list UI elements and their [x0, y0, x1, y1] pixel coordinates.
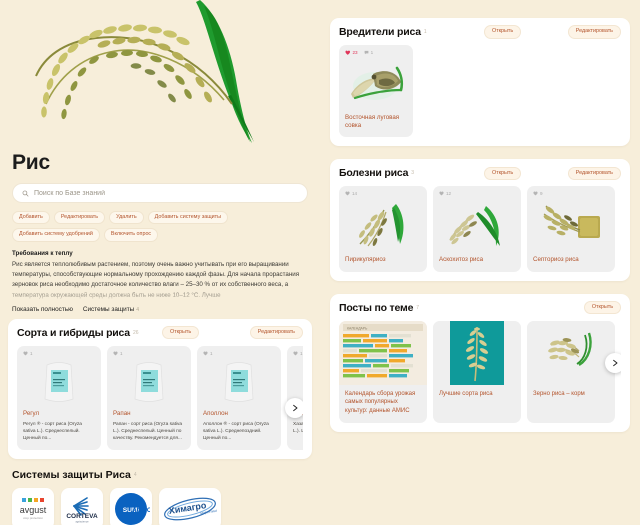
- ascochyta-illustration: [442, 200, 512, 250]
- pest-card[interactable]: 23 1: [339, 45, 413, 137]
- card-badges: 1: [23, 351, 95, 356]
- varieties-title: Сорта и гибриды риса: [17, 327, 130, 339]
- post-card[interactable]: Лучшие сорта риса: [433, 321, 521, 423]
- variety-image: [203, 358, 275, 406]
- disease-name: Аскохитоз риса: [439, 256, 515, 264]
- description-links: Показать полностью Системы защиты4: [12, 306, 308, 313]
- edit-button[interactable]: Редактировать: [54, 211, 105, 224]
- corteva-logo-icon: CORTEVA agriscience: [63, 493, 101, 525]
- description-heading: Требования к теплу: [12, 250, 308, 257]
- varieties-count: 26: [133, 330, 139, 336]
- svg-text:crop protection: crop protection: [23, 516, 43, 520]
- variety-card[interactable]: 1 Аполлон Аполлон: [197, 346, 281, 450]
- rice-panicle-photo: [433, 321, 521, 385]
- svg-text:agriscience: agriscience: [75, 519, 89, 523]
- post-image: [433, 321, 521, 385]
- pests-edit-button[interactable]: Редактировать: [568, 25, 621, 38]
- variety-name: Регул: [23, 410, 95, 418]
- card-badges: 1: [113, 351, 185, 356]
- post-title: Лучшие сорта риса: [433, 385, 521, 406]
- moth-illustration: [345, 60, 407, 108]
- logo-himagromarketing[interactable]: Химагро маркетинг: [159, 488, 221, 525]
- like-badge: 1: [203, 351, 213, 356]
- variety-card[interactable]: 1 Рапан Рапан - со: [107, 346, 191, 450]
- card-badges: 12: [439, 191, 515, 196]
- variety-name: Аполлон: [203, 410, 275, 418]
- protection-systems-header: Системы защиты Риса 4: [12, 469, 308, 481]
- card-badges: 23 1: [345, 50, 407, 56]
- post-title: Календарь сбора урожая самых популярных …: [339, 385, 427, 423]
- like-badge: 1: [113, 351, 123, 356]
- search-container: [0, 183, 320, 203]
- logo-sumiagro[interactable]: SUMI AGRO: [110, 488, 152, 525]
- post-image: [527, 321, 615, 385]
- post-card[interactable]: Зерно риса – корм: [527, 321, 615, 423]
- varieties-panel: Сорта и гибриды риса 26 Открыть Редактир…: [8, 319, 312, 459]
- svg-text:КАЛЕНДАРЬ: КАЛЕНДАРЬ: [347, 326, 368, 330]
- diseases-title: Болезни риса: [339, 167, 408, 179]
- svg-text:CORTEVA: CORTEVA: [66, 513, 98, 520]
- diseases-open-button[interactable]: Открыть: [484, 167, 521, 180]
- protection-systems-count: 4: [134, 472, 137, 478]
- like-badge: 12: [439, 191, 451, 196]
- seed-bag-icon: [219, 359, 259, 405]
- disease-image: [345, 198, 421, 252]
- like-badge: 14: [345, 191, 357, 196]
- chevron-right-icon: [611, 359, 619, 367]
- enable-poll-button[interactable]: Включить опрос: [104, 228, 158, 241]
- harvest-calendar-chart: КАЛЕНДАРЬ: [339, 321, 427, 385]
- posts-count: 7: [416, 305, 419, 311]
- disease-card[interactable]: 9: [527, 186, 615, 271]
- diseases-edit-button[interactable]: Редактировать: [568, 167, 621, 180]
- svg-text:avgust: avgust: [20, 505, 47, 515]
- heart-icon: [293, 351, 298, 356]
- card-badges: 9: [533, 191, 609, 196]
- like-badge: 1: [293, 351, 303, 356]
- pests-title: Вредители риса: [339, 26, 421, 38]
- variety-card[interactable]: 1 Регул Регул ® -: [17, 346, 101, 450]
- seed-bag-icon: [39, 359, 79, 405]
- heart-icon: [23, 351, 28, 356]
- pests-open-button[interactable]: Открыть: [484, 25, 521, 38]
- variety-desc: Регул ® - сорт риса (Oryza sativa L.). С…: [23, 421, 95, 443]
- heart-icon: [345, 191, 350, 196]
- card-badges: 1: [293, 351, 303, 356]
- logo-corteva[interactable]: CORTEVA agriscience: [61, 488, 103, 525]
- varieties-edit-button[interactable]: Редактировать: [250, 326, 303, 339]
- posts-panel: Посты по теме 7 Открыть КАЛЕНДАРЬ: [330, 294, 630, 432]
- varieties-next-button[interactable]: [285, 398, 303, 418]
- pests-count: 1: [424, 29, 427, 35]
- posts-header: Посты по теме 7 Открыть: [339, 302, 621, 314]
- heart-icon: [533, 191, 538, 196]
- disease-image: [533, 198, 609, 252]
- protection-systems-link[interactable]: Системы защиты4: [83, 306, 139, 313]
- description-text: Рис является теплолюбивым растением, поэ…: [12, 260, 308, 301]
- search-icon: [22, 190, 29, 197]
- varieties-open-button[interactable]: Открыть: [162, 326, 199, 339]
- post-card[interactable]: КАЛЕНДАРЬ: [339, 321, 427, 423]
- protection-systems-logos: avgust crop protection CORTEVA agriscien…: [12, 488, 308, 525]
- hero-image: [0, 0, 320, 145]
- heart-icon: [345, 50, 351, 56]
- post-image: КАЛЕНДАРЬ: [339, 321, 427, 385]
- like-badge: 9: [533, 191, 543, 196]
- posts-title: Посты по теме: [339, 302, 413, 314]
- rice-plant-illustration: [0, 0, 320, 145]
- page-title: Рис: [0, 145, 320, 183]
- pest-name: Восточная луговая совка: [345, 114, 407, 131]
- pests-panel: Вредители риса 1 Открыть Редактировать 2…: [330, 18, 630, 146]
- posts-open-button[interactable]: Открыть: [584, 301, 621, 314]
- search-input[interactable]: [34, 190, 298, 197]
- disease-image: [439, 198, 515, 252]
- disease-name: Септориоз риса: [533, 256, 609, 264]
- add-protection-system-button[interactable]: Добавить систему защиты: [148, 211, 228, 224]
- varieties-header: Сорта и гибриды риса 26 Открыть Редактир…: [17, 327, 303, 339]
- rice-blast-illustration: [348, 200, 418, 250]
- variety-desc: Рапан - сорт риса (Oryza sativa L.). Сре…: [113, 421, 185, 443]
- action-buttons: Добавить Редактировать Удалить Добавить …: [0, 203, 320, 248]
- disease-name: Пирикуляриоз: [345, 256, 421, 264]
- like-badge: 1: [23, 351, 33, 356]
- septoria-illustration: [536, 200, 606, 250]
- svg-text:AGRO: AGRO: [132, 507, 150, 514]
- rice-grain-feed-photo: [527, 321, 615, 385]
- varieties-cards: 1 Регул Регул ® -: [17, 346, 303, 450]
- heart-icon: [203, 351, 208, 356]
- avgust-logo-icon: avgust crop protection: [14, 494, 52, 524]
- disease-card[interactable]: 14: [339, 186, 427, 271]
- variety-image: [23, 358, 95, 406]
- diseases-cards: 14: [339, 186, 621, 271]
- disease-card[interactable]: 12: [433, 186, 521, 271]
- variety-desc: Хазар - сорт риса (Oryza sativa L.). Цен…: [293, 421, 303, 435]
- sumiagro-logo-icon: SUMI AGRO: [112, 490, 150, 525]
- pest-image: [345, 58, 407, 110]
- search-bar[interactable]: [12, 183, 308, 203]
- comment-icon: [364, 50, 369, 55]
- show-more-link[interactable]: Показать полностью: [12, 306, 73, 313]
- knowledge-base-page: Рис Добавить Редактировать Удалить Добав…: [0, 0, 640, 525]
- chevron-right-icon: [291, 404, 299, 412]
- card-badges: 14: [345, 191, 421, 196]
- pests-header: Вредители риса 1 Открыть Редактировать: [339, 26, 621, 38]
- variety-name: Рапан: [113, 410, 185, 418]
- right-column: Вредители риса 1 Открыть Редактировать 2…: [330, 0, 640, 525]
- seed-bag-icon: [129, 359, 169, 405]
- diseases-header: Болезни риса 3 Открыть Редактировать: [339, 167, 621, 179]
- description-block: Требования к теплу Рис является теплолюб…: [0, 248, 320, 313]
- variety-image: [113, 358, 185, 406]
- add-button[interactable]: Добавить: [12, 211, 50, 224]
- protection-systems-title: Системы защиты Риса: [12, 469, 131, 481]
- comment-badge: 1: [364, 50, 374, 55]
- delete-button[interactable]: Удалить: [109, 211, 144, 224]
- protection-systems-section: Системы защиты Риса 4 avgust crop protec…: [0, 459, 320, 525]
- add-fertilizer-system-button[interactable]: Добавить систему удобрений: [12, 228, 100, 241]
- variety-desc: Аполлон ® - сорт риса (Oryza sativa L.).…: [203, 421, 275, 443]
- diseases-panel: Болезни риса 3 Открыть Редактировать 14: [330, 159, 630, 280]
- pests-cards: 23 1: [339, 45, 621, 137]
- post-title: Зерно риса – корм: [527, 385, 615, 406]
- logo-avgust[interactable]: avgust crop protection: [12, 488, 54, 525]
- card-badges: 1: [203, 351, 275, 356]
- posts-cards: КАЛЕНДАРЬ: [339, 321, 621, 423]
- heart-icon: [113, 351, 118, 356]
- himagro-logo-icon: Химагро маркетинг: [161, 492, 219, 525]
- left-column: Рис Добавить Редактировать Удалить Добав…: [0, 0, 320, 525]
- diseases-count: 3: [411, 170, 414, 176]
- heart-icon: [439, 191, 444, 196]
- posts-next-button[interactable]: [605, 353, 621, 373]
- like-badge: 23: [345, 50, 358, 56]
